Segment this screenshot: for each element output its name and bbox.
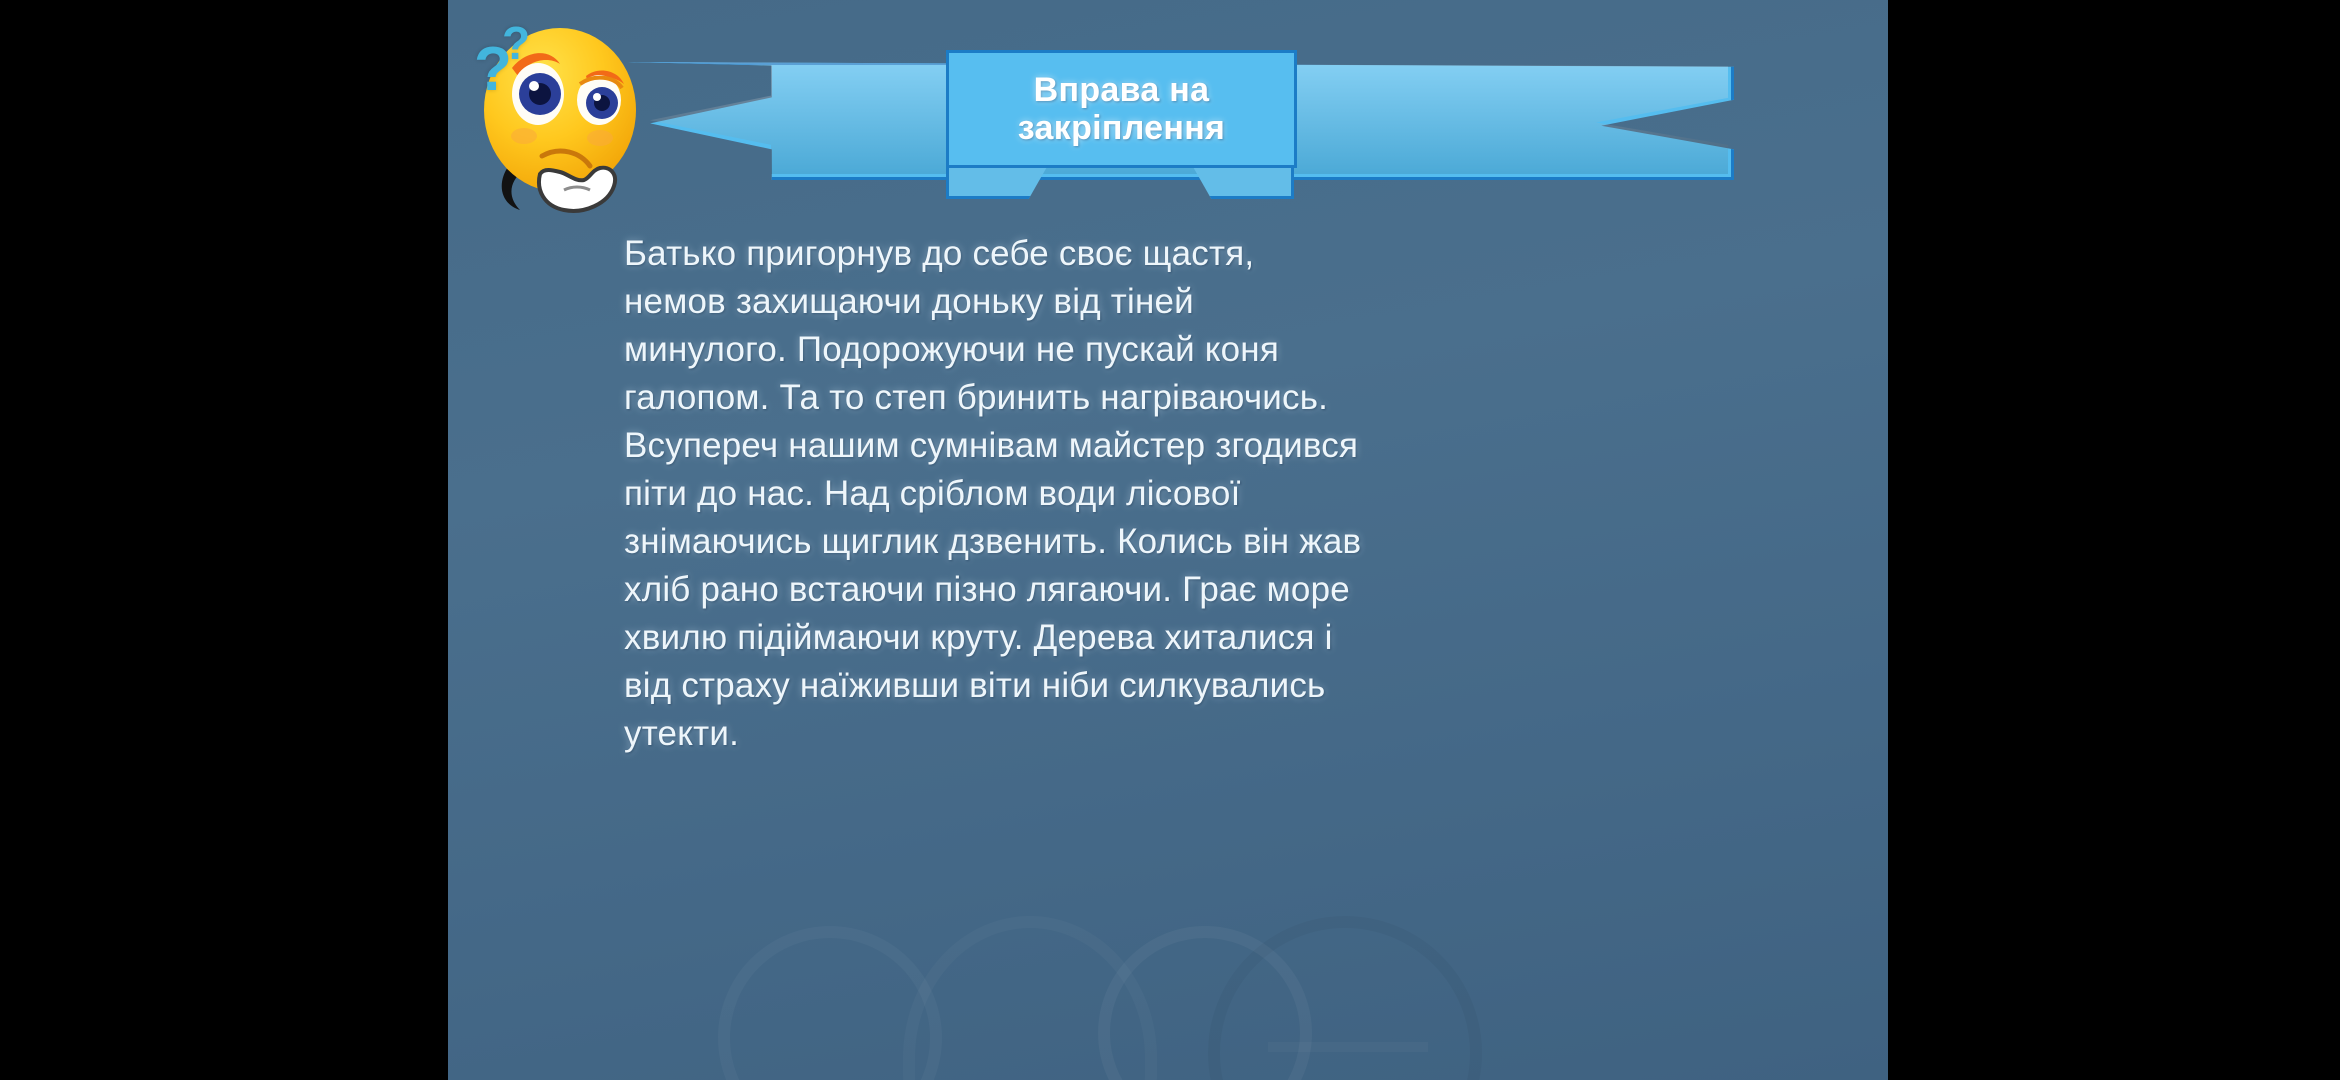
- watermark-shape: [1098, 926, 1312, 1080]
- exercise-text: Батько пригорнув до себе своє щастя, нем…: [624, 230, 1364, 758]
- exercise-paragraph: Батько пригорнув до себе своє щастя, нем…: [624, 230, 1364, 758]
- watermark-shape: [1208, 916, 1482, 1080]
- presentation-slide: Вправа на закріплення ? ?: [448, 0, 1888, 1080]
- title-ribbon: Вправа на закріплення: [628, 50, 1738, 180]
- banner-title: Вправа на закріплення: [1018, 71, 1225, 148]
- watermark-shape: [903, 916, 1157, 1080]
- ribbon-plaque: Вправа на закріплення: [946, 50, 1297, 168]
- question-mark-icon: ?: [502, 16, 530, 70]
- letterbox-right: [1888, 0, 2340, 1080]
- watermark-shape: [1268, 1042, 1428, 1052]
- letterbox-left: [0, 0, 448, 1080]
- banner-title-line-1: Вправа на: [1034, 71, 1210, 109]
- watermark-shape: [718, 926, 942, 1080]
- thinking-face-icon: ? ?: [468, 14, 648, 214]
- banner-title-line-2: закріплення: [1018, 109, 1225, 147]
